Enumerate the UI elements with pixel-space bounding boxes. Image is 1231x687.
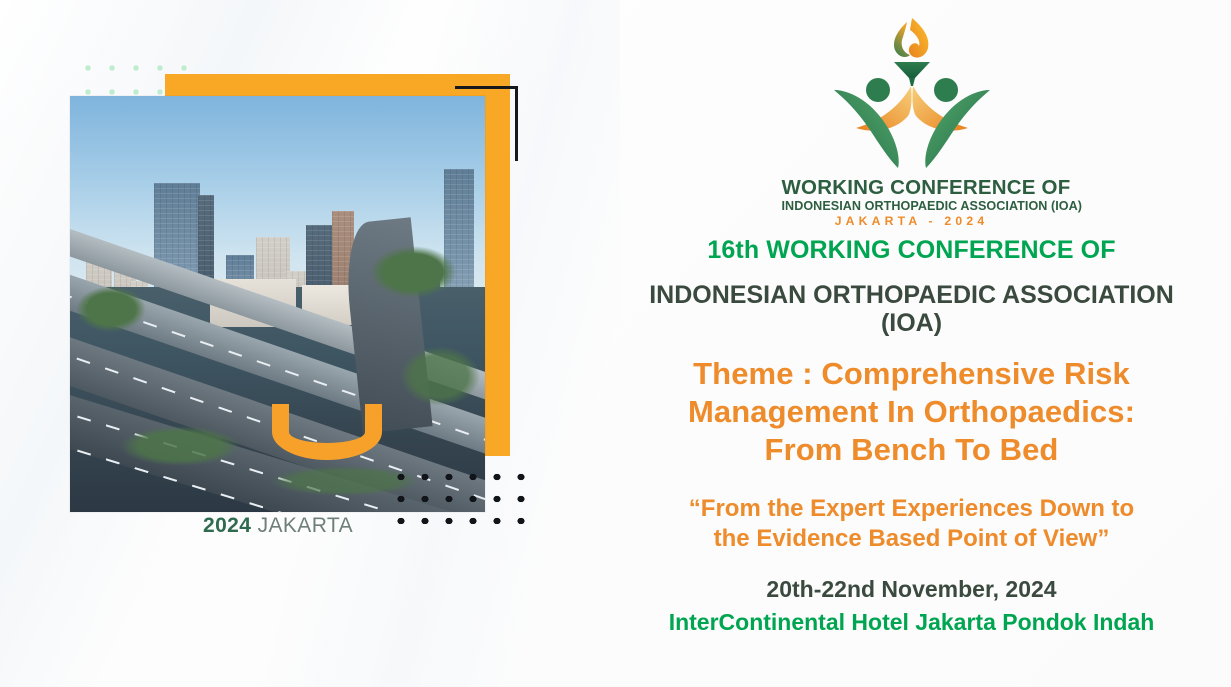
title-abbreviation: (IOA) (881, 309, 942, 337)
torch-and-people-logo-icon (812, 12, 1012, 177)
caption-year: 2024 (203, 514, 251, 537)
left-visual-panel: 2024 JAKARTA (0, 0, 600, 687)
right-content-panel: WORKING CONFERENCE OF INDONESIAN ORTHOPA… (592, 0, 1231, 687)
greenery (400, 346, 480, 406)
conference-poster: 2024 JAKARTA (0, 0, 1231, 687)
logo-text-line2: INDONESIAN ORTHOPAEDIC ASSOCIATION (IOA) (782, 199, 1042, 215)
quote-line2: the Evidence Based Point of View” (714, 525, 1110, 552)
conference-logo: WORKING CONFERENCE OF INDONESIAN ORTHOPA… (782, 12, 1042, 222)
event-date: 20th-22nd November, 2024 (592, 576, 1231, 604)
title-association: INDONESIAN ORTHOPAEDIC ASSOCIATION (649, 281, 1174, 309)
greenery (120, 426, 240, 466)
page-title-line1: 16th WORKING CONFERENCE OF (592, 236, 1231, 265)
logo-text-line1: WORKING CONFERENCE OF (782, 177, 1042, 199)
event-venue: InterContinental Hotel Jakarta Pondok In… (592, 608, 1231, 636)
photo-caption: 2024 JAKARTA (70, 514, 486, 538)
conference-theme: Theme : Comprehensive Risk Management In… (592, 355, 1231, 468)
orange-arc-decoration (272, 404, 382, 460)
corner-bracket-decoration (455, 86, 518, 161)
jakarta-photo (70, 96, 485, 512)
theme-line1: Theme : Comprehensive Risk (693, 356, 1130, 391)
conference-subtitle-quote: “From the Expert Experiences Down to the… (592, 494, 1231, 554)
logo-text-line3: JAKARTA - 2024 (782, 214, 1042, 230)
caption-city: JAKARTA (258, 514, 353, 537)
greenery (76, 286, 146, 332)
quote-line1: “From the Expert Experiences Down to (689, 495, 1134, 522)
theme-line2: Management In Orthopaedics: (688, 394, 1135, 429)
page-title-line2: INDONESIAN ORTHOPAEDIC ASSOCIATION (IOA) (592, 281, 1231, 337)
theme-line3: From Bench To Bed (765, 432, 1059, 467)
greenery (370, 246, 456, 298)
